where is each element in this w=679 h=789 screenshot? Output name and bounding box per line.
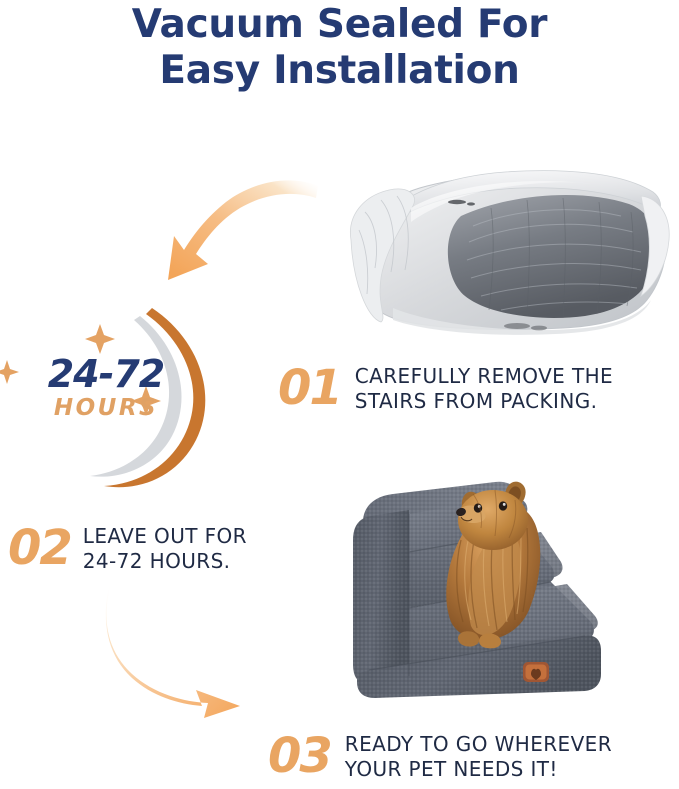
step-item-03: 03 READY TO GO WHEREVER YOUR PET NEEDS I… bbox=[268, 732, 612, 782]
duration-badge: 24-72 HOURS bbox=[0, 300, 274, 490]
page-title-line-1: Vacuum Sealed For bbox=[0, 2, 679, 48]
step-text-03: READY TO GO WHEREVER YOUR PET NEEDS IT! bbox=[345, 732, 612, 782]
step-number-01: 01 bbox=[278, 364, 341, 412]
step-text-02-line-2: 24-72 HOURS. bbox=[83, 549, 247, 574]
step-number-03: 03 bbox=[268, 732, 331, 780]
step-text-03-line-2: YOUR PET NEEDS IT! bbox=[345, 757, 612, 782]
step-text-02: LEAVE OUT FOR 24-72 HOURS. bbox=[83, 524, 247, 574]
step-text-03-line-1: READY TO GO WHEREVER bbox=[345, 732, 612, 757]
duration-value: 24-72 bbox=[16, 354, 196, 394]
step-number-02: 02 bbox=[8, 524, 71, 572]
curved-arrow-down-left-icon bbox=[140, 158, 320, 313]
pet-stairs-with-dog-photo bbox=[345, 470, 660, 705]
step-item-01: 01 CAREFULLY REMOVE THE STAIRS FROM PACK… bbox=[278, 364, 613, 414]
duration-unit: HOURS bbox=[16, 394, 196, 422]
step-text-01-line-2: STAIRS FROM PACKING. bbox=[355, 389, 613, 414]
vacuum-sealed-package-photo bbox=[341, 160, 673, 340]
step-text-01: CAREFULLY REMOVE THE STAIRS FROM PACKING… bbox=[355, 364, 613, 414]
infographic-root: Vacuum Sealed For Easy Installation bbox=[0, 0, 679, 789]
duration-badge-text: 24-72 HOURS bbox=[16, 354, 196, 422]
step-text-01-line-1: CAREFULLY REMOVE THE bbox=[355, 364, 613, 389]
page-title: Vacuum Sealed For Easy Installation bbox=[0, 2, 679, 94]
brand-logo-patch bbox=[523, 662, 549, 682]
page-title-line-2: Easy Installation bbox=[0, 48, 679, 94]
step-text-02-line-1: LEAVE OUT FOR bbox=[83, 524, 247, 549]
step-item-02: 02 LEAVE OUT FOR 24-72 HOURS. bbox=[8, 524, 247, 574]
curved-arrow-down-right-icon bbox=[78, 578, 288, 723]
